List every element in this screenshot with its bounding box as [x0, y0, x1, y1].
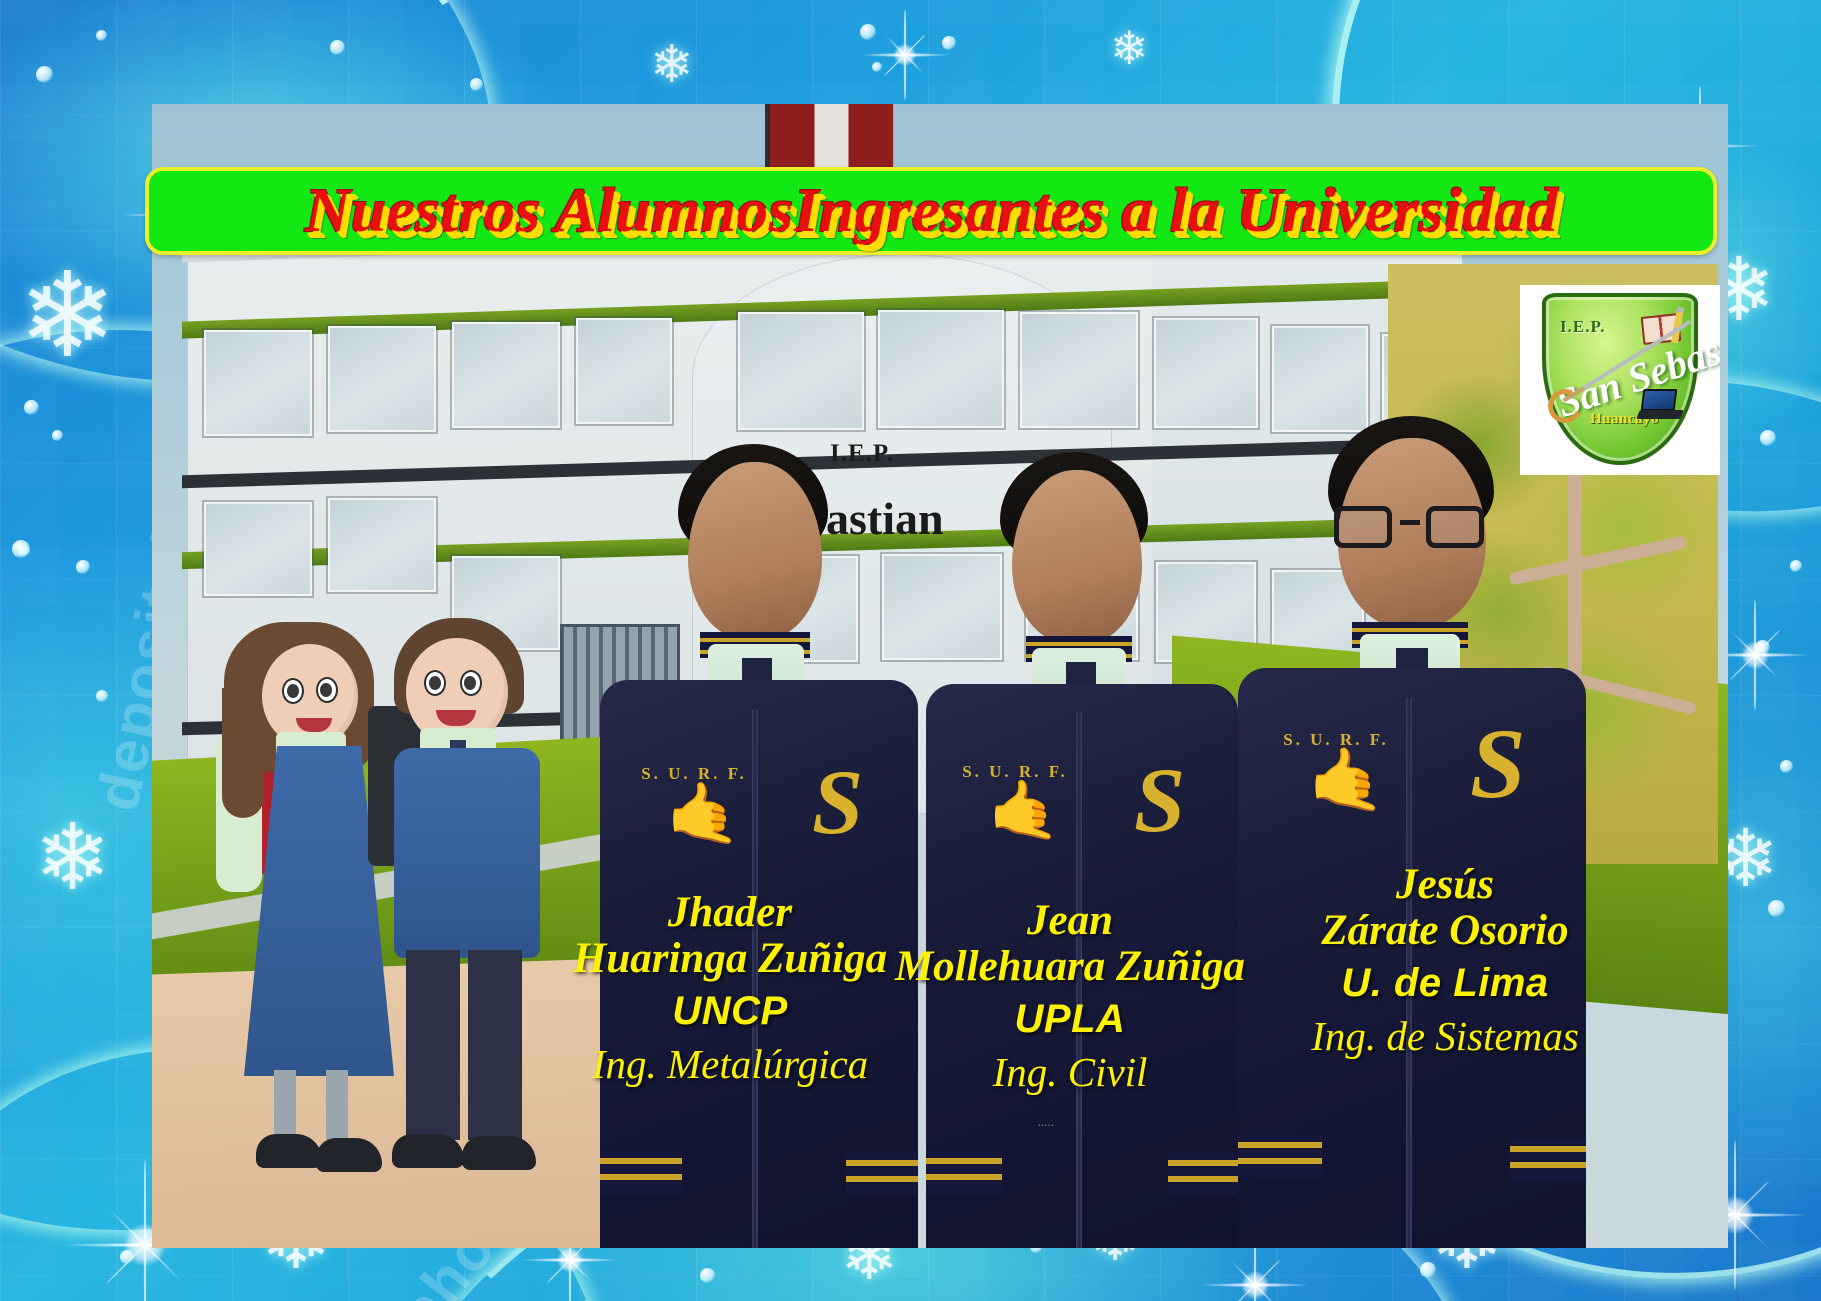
bubble-icon — [470, 78, 483, 91]
student-last-name: Huaringa Zuñiga — [540, 936, 920, 982]
student-first-name: Jean — [880, 898, 1260, 944]
sparkle-star-icon — [860, 10, 950, 100]
title-banner: Nuestros AlumnosIngresantes a la Univers… — [145, 167, 1717, 255]
snowflake-icon: ❄ — [18, 258, 117, 376]
student-university: UNCP — [540, 990, 920, 1033]
cartoon-vest — [394, 748, 540, 958]
cartoon-eye — [316, 677, 338, 703]
mural-window — [328, 498, 436, 592]
peru-flag-icon — [770, 104, 893, 169]
bubble-icon — [52, 430, 63, 441]
jacket-s-logo: S — [1470, 724, 1526, 804]
jacket-cuff — [846, 1152, 918, 1196]
cartoon-hair — [222, 688, 264, 818]
student-career: Ing. Metalúrgica — [540, 1042, 920, 1086]
student-label-2: Jean Mollehuara Zuñiga UPLA Ing. Civil — [880, 898, 1260, 1094]
student-first-name: Jesús — [1250, 862, 1640, 908]
student-label-3: Jesús Zárate Osorio U. de Lima Ing. de S… — [1250, 862, 1640, 1058]
mural-window — [738, 312, 864, 430]
jacket-cuff — [1510, 1138, 1586, 1182]
student-last-name: Zárate Osorio — [1250, 908, 1640, 954]
eyeglasses-icon — [1330, 506, 1500, 552]
bubble-icon — [700, 1268, 715, 1283]
student-face — [1012, 470, 1142, 644]
snowflake-icon: ❄ — [1110, 26, 1149, 72]
mural-window — [204, 330, 312, 436]
laptop-icon — [1638, 389, 1682, 419]
school-logo: I.E.P. San Sebastian Huancayo — [1520, 285, 1720, 475]
mural-window — [328, 326, 436, 432]
jacket-cuff — [1238, 1134, 1322, 1178]
cartoon-shoe — [256, 1134, 322, 1168]
cartoon-eye — [424, 670, 446, 696]
bubble-icon — [96, 30, 107, 41]
poster-root: ❄ ❄ ❄ ❄ ❄ ❄ ❄ ❄ ❄ ❄ depositphotos photos — [0, 0, 1821, 1301]
jacket-cuff — [926, 1150, 1002, 1194]
bubble-icon — [12, 540, 30, 558]
cartoon-mouth — [296, 718, 332, 732]
cartoon-trouser — [468, 950, 522, 1140]
student-first-name: Jhader — [540, 890, 920, 936]
cartoon-trouser — [406, 950, 460, 1140]
mural-window — [576, 318, 672, 424]
bubble-icon — [330, 40, 345, 55]
student-university: U. de Lima — [1250, 962, 1640, 1005]
cartoon-sock — [326, 1070, 348, 1140]
bubble-icon — [76, 560, 90, 574]
student-figure-1: S. U. R. F. 🤙 S — [592, 444, 922, 1248]
snowflake-icon: ❄ — [34, 812, 111, 904]
bubble-icon — [36, 66, 53, 83]
student-career: Ing. de Sistemas — [1250, 1014, 1640, 1058]
bubble-icon — [24, 400, 39, 415]
shaka-hand-icon: 🤙 — [988, 782, 1060, 840]
student-face — [688, 462, 822, 640]
mural-window — [1020, 312, 1138, 428]
bubble-icon — [1780, 760, 1793, 773]
shield-icon: I.E.P. San Sebastian Huancayo — [1542, 293, 1698, 465]
shaka-hand-icon: 🤙 — [666, 784, 741, 844]
bubble-icon — [1760, 430, 1776, 446]
jacket-s-logo: S — [1134, 764, 1185, 838]
jacket-signature: ..... — [1038, 1114, 1054, 1130]
bubble-icon — [1790, 560, 1802, 572]
jacket-s-logo: S — [812, 766, 863, 840]
page-title: Nuestros AlumnosIngresantes a la Univers… — [304, 176, 1558, 247]
jacket-cuff — [600, 1150, 682, 1194]
cartoon-shoe — [392, 1134, 464, 1168]
student-university: UPLA — [880, 998, 1260, 1041]
shaka-hand-icon: 🤙 — [1308, 750, 1385, 812]
cartoon-shoe — [462, 1136, 536, 1170]
mural-window — [204, 502, 312, 596]
student-last-name: Mollehuara Zuñiga — [880, 944, 1260, 990]
cartoon-eye — [460, 670, 482, 696]
jacket-cuff — [1168, 1152, 1238, 1196]
mural-window — [1154, 318, 1258, 428]
mural-window — [452, 322, 560, 428]
student-career: Ing. Civil — [880, 1050, 1260, 1094]
cartoon-mouth — [436, 710, 476, 726]
mural-window — [878, 310, 1004, 428]
student-figure-2: S. U. R. F. 🤙 S ..... — [922, 452, 1242, 1248]
student-label-1: Jhader Huaringa Zuñiga UNCP Ing. Metalúr… — [540, 890, 920, 1086]
logo-iep-label: I.E.P. — [1560, 317, 1606, 337]
cartoon-eye — [282, 678, 304, 704]
cartoon-sock — [274, 1070, 296, 1140]
student-figure-3: S. U. R. F. 🤙 S — [1232, 416, 1592, 1248]
snowflake-icon: ❄ — [650, 40, 694, 92]
